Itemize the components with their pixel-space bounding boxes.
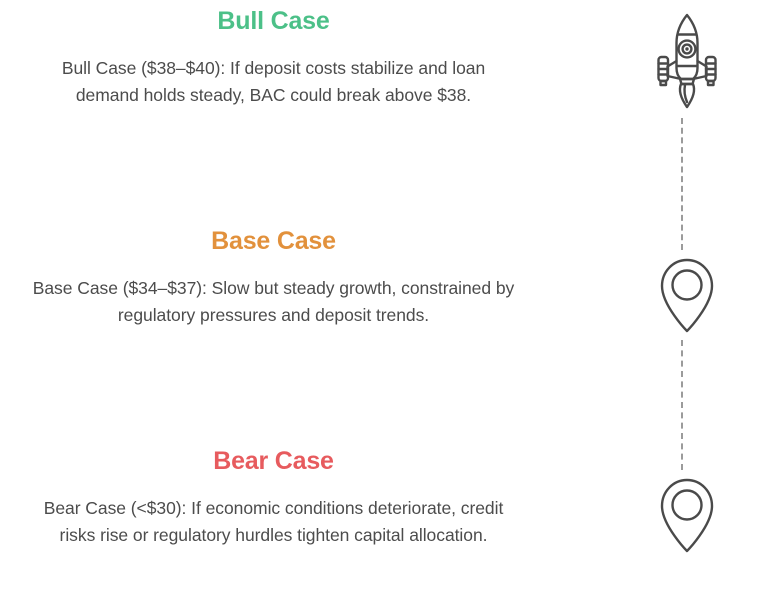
- scenario-body-bear: Bear Case (<$30): If economic conditions…: [0, 495, 547, 549]
- timeline-connector-2: [681, 340, 683, 470]
- rocket-icon: [650, 10, 724, 110]
- scenario-heading-base: Base Case: [0, 224, 547, 258]
- map-pin-icon: [656, 255, 718, 335]
- scenario-block-bear: Bear Case Bear Case (<$30): If economic …: [0, 444, 547, 549]
- scenario-body-base: Base Case ($34–$37): Slow but steady gro…: [0, 275, 547, 329]
- scenario-heading-bear: Bear Case: [0, 444, 547, 478]
- infographic-canvas: Bull Case Bull Case ($38–$40): If deposi…: [0, 0, 768, 612]
- scenario-block-bull: Bull Case Bull Case ($38–$40): If deposi…: [0, 4, 547, 109]
- scenario-content-column: Bull Case Bull Case ($38–$40): If deposi…: [0, 0, 547, 612]
- timeline-node-pin-2: [642, 472, 732, 558]
- scenario-heading-bull: Bull Case: [0, 4, 547, 38]
- map-pin-icon: [656, 475, 718, 555]
- timeline-node-rocket: [642, 8, 732, 112]
- timeline-connector-1: [681, 118, 683, 250]
- scenario-block-base: Base Case Base Case ($34–$37): Slow but …: [0, 224, 547, 329]
- timeline-node-pin-1: [642, 252, 732, 338]
- timeline-column: [547, 0, 768, 612]
- scenario-body-bull: Bull Case ($38–$40): If deposit costs st…: [0, 55, 547, 109]
